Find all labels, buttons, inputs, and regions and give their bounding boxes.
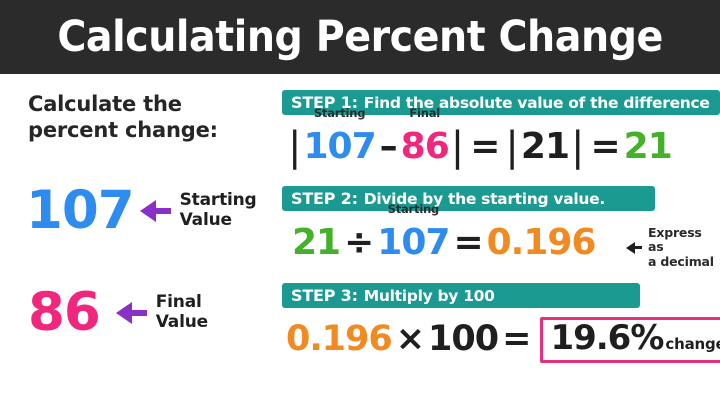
divide-operator: ÷: [344, 225, 373, 261]
step-2-equation: 21 ÷ Starting 107 = 0.196: [292, 222, 595, 263]
steps-panel: STEP 1: Find the absolute value of the d…: [274, 74, 720, 404]
starting-micro-label: Starting: [388, 202, 439, 216]
starting-value-row: 107 Starting Value: [26, 184, 257, 237]
step-3-instruction: Multiply by 100: [364, 287, 495, 305]
hundred-number: 100: [428, 322, 498, 357]
equals-operator: =: [502, 322, 530, 357]
note-line-1: Express as: [648, 225, 702, 254]
final-label-line-1: Final: [156, 292, 202, 312]
content-canvas: Calculate the percent change: 107 Starti…: [0, 74, 720, 404]
prompt-line-1: Calculate the: [28, 92, 218, 118]
step-2-number: STEP 2:: [291, 189, 358, 208]
prompt-line-2: percent change:: [28, 118, 218, 144]
step-3-number: STEP 3:: [291, 286, 358, 305]
decimal-note: Express as a decimal: [626, 226, 720, 269]
arrow-tail-icon: [155, 208, 171, 214]
step-1-equation: | Starting 107 – Final 86 | = | 21 | = 2…: [286, 126, 672, 167]
note-arrow-tail-icon: [634, 246, 642, 249]
starting-label-line-2: Value: [180, 210, 232, 230]
equals-1: =: [470, 129, 499, 165]
header-bar: Calculating Percent Change: [0, 0, 720, 74]
minus-operator: –: [380, 129, 397, 165]
quotient-number: 0.196: [286, 322, 392, 357]
starting-term-1: Starting 107: [303, 126, 375, 167]
equals-2: =: [590, 129, 619, 165]
times-operator: ×: [396, 322, 424, 357]
difference-number: 21: [292, 225, 340, 261]
step-3-equation: 0.196 × 100 = 19.6% change: [286, 317, 720, 363]
difference-number: 21: [521, 129, 569, 165]
final-value-label: Final Value: [156, 293, 208, 331]
arrow-left-icon: [116, 302, 132, 324]
note-text: Express as a decimal: [648, 226, 720, 269]
step-3-banner: STEP 3: Multiply by 100: [282, 283, 640, 308]
abs-bar-open: |: [288, 127, 301, 167]
final-value-row: 86 Final Value: [28, 286, 208, 339]
abs-bar-open-2: |: [505, 127, 518, 167]
abs-bar-close: |: [451, 127, 464, 167]
starting-term-2: Starting 107: [377, 222, 449, 263]
equals-operator: =: [453, 225, 482, 261]
step-2-banner: STEP 2: Divide by the starting value.: [282, 186, 655, 211]
arrow-tail-icon: [131, 310, 147, 316]
abs-bar-close-2: |: [571, 127, 584, 167]
answer-value: 19.6%: [550, 321, 663, 357]
step-1-result: 21: [624, 129, 672, 165]
final-term-1: Final 86: [401, 126, 449, 167]
final-number: 86: [401, 126, 449, 167]
problem-prompt: Calculate the percent change:: [28, 92, 218, 143]
arrow-left-icon: [140, 200, 156, 222]
problem-panel: Calculate the percent change: 107 Starti…: [0, 74, 272, 404]
answer-word: change: [665, 335, 720, 353]
page-title: Calculating Percent Change: [57, 12, 663, 62]
quotient-number: 0.196: [487, 225, 596, 261]
final-value: 86: [28, 286, 100, 339]
starting-value: 107: [26, 184, 134, 237]
answer-box: 19.6% change: [540, 317, 720, 363]
final-label-line-2: Value: [156, 312, 208, 332]
starting-number: 107: [303, 126, 375, 167]
starting-label-line-1: Starting: [180, 190, 257, 210]
starting-value-label: Starting Value: [180, 191, 257, 229]
starting-micro-label: Starting: [314, 106, 365, 120]
starting-number: 107: [377, 222, 449, 263]
note-line-2: a decimal: [648, 254, 714, 269]
final-micro-label: Final: [409, 106, 440, 120]
